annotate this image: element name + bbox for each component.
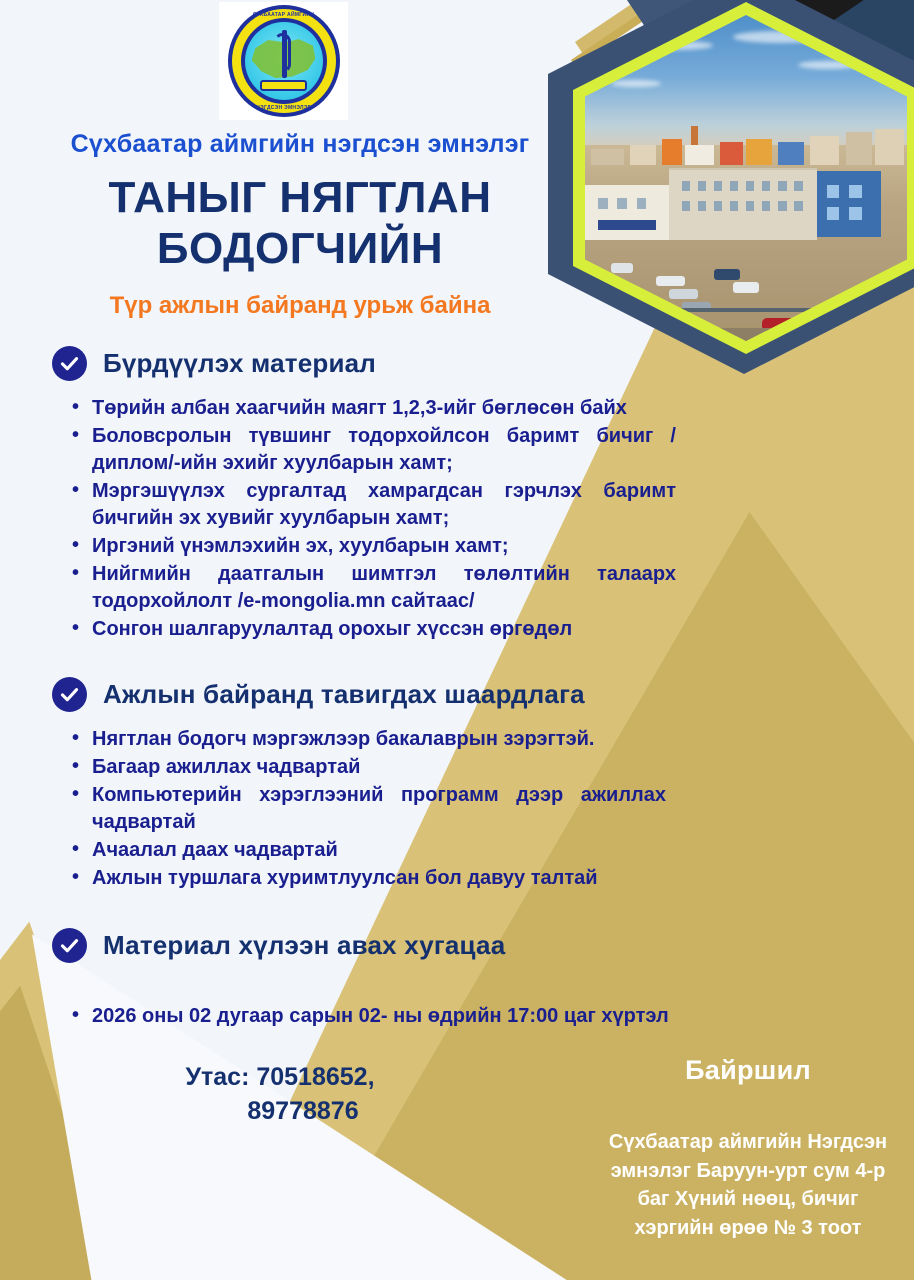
hospital-logo: СҮХБААТАР АЙМГИЙН НЭГДСЭН ЭМНЭЛЭГ: [219, 2, 348, 120]
list-item: Нийгмийн даатгалын шимтгэл төлөлтийн тал…: [92, 561, 700, 614]
section-deadline: Материал хүлээн авах хугацаа 2026 оны 02…: [0, 928, 700, 1129]
list-item: Боловсролын түвшинг тодорхойлсон баримт …: [92, 423, 700, 476]
check-circle-icon: [52, 346, 87, 381]
poster-tagline: Түр ажлын байранд урьж байна: [0, 292, 600, 320]
asclepius-rod-icon: [282, 30, 287, 78]
list-item: Нягтлан бодогч мэргэжлээр бакалаврын зэр…: [92, 726, 700, 752]
list-item: 2026 оны 02 дугаар сарын 02- ны өдрийн 1…: [92, 1003, 700, 1029]
job-announcement-poster: СҮХБААТАР АЙМГИЙН НЭГДСЭН ЭМНЭЛЭГ Сүхбаа…: [0, 0, 914, 1280]
section-title: Бүрдүүлэх материал: [103, 348, 376, 379]
document-requirements-list: Төрийн албан хаагчийн маягт 1,2,3-ийг бө…: [0, 395, 700, 643]
page-title-line-1: ТАНЫГ НЯГТЛАН: [0, 173, 600, 224]
page-title: ТАНЫГ НЯГТЛАН БОДОГЧИЙН: [0, 173, 600, 274]
section-header: Материал хүлээн авах хугацаа: [0, 928, 700, 963]
section-title: Ажлын байранд тавигдах шаардлага: [103, 679, 585, 710]
phone-line-1: Утас: 70518652,: [0, 1061, 560, 1095]
phone-line-2: 89778876: [0, 1095, 560, 1129]
poster-header: Сүхбаатар аймгийн нэгдсэн эмнэлэг ТАНЫГ …: [0, 130, 600, 320]
section-title: Материал хүлээн авах хугацаа: [103, 930, 505, 961]
location-address: Сүхбаатар аймгийн Нэгдсэн эмнэлэг Баруун…: [598, 1128, 898, 1242]
section-header: Бүрдүүлэх материал: [0, 346, 700, 381]
list-item: Ачаалал даах чадвартай: [92, 837, 700, 863]
list-item: Төрийн албан хаагчийн маягт 1,2,3-ийг бө…: [92, 395, 700, 421]
address-line-2: эмнэлэг Баруун-урт сум 4-р: [598, 1157, 898, 1185]
section-required-documents: Бүрдүүлэх материал Төрийн албан хаагчийн…: [0, 346, 700, 643]
list-item: Ажлын туршлага хуримтлуулсан бол давуу т…: [92, 865, 700, 891]
deadline-list: 2026 оны 02 дугаар сарын 02- ны өдрийн 1…: [0, 1003, 700, 1029]
address-line-1: Сүхбаатар аймгийн Нэгдсэн: [598, 1128, 898, 1156]
section-header: Ажлын байранд тавигдах шаардлага: [0, 677, 700, 712]
list-item: Сонгон шалгаруулалтад орохыг хүссэн өргө…: [92, 616, 700, 642]
logo-bottom-text: НЭГДСЭН ЭМНЭЛЭГ: [228, 105, 340, 111]
address-line-3: баг Хүний нөөц, бичиг: [598, 1185, 898, 1213]
address-line-4: хэргийн өрөө № 3 тоот: [598, 1214, 898, 1242]
organization-name: Сүхбаатар аймгийн нэгдсэн эмнэлэг: [0, 130, 600, 159]
location-title: Байршил: [598, 1055, 898, 1086]
page-title-line-2: БОДОГЧИЙН: [0, 224, 600, 275]
logo-core: [245, 22, 323, 100]
job-requirements-list: Нягтлан бодогч мэргэжлээр бакалаврын зэр…: [0, 726, 700, 892]
section-job-requirements: Ажлын байранд тавигдах шаардлага Нягтлан…: [0, 677, 700, 892]
logo-top-text: СҮХБААТАР АЙМГИЙН: [228, 12, 340, 18]
list-item: Иргэний үнэмлэхийн эх, хуулбарын хамт;: [92, 533, 700, 559]
poster-content: Бүрдүүлэх материал Төрийн албан хаагчийн…: [0, 346, 700, 1129]
location-block: Байршил Сүхбаатар аймгийн Нэгдсэн эмнэлэ…: [598, 1055, 898, 1242]
logo-base-shape: [260, 80, 307, 91]
list-item: Мэргэшүүлэх сургалтад хамрагдсан гэрчлэх…: [92, 478, 700, 531]
list-item: Компьютерийн хэрэглээний программ дээр а…: [92, 782, 700, 835]
contact-phone: Утас: 70518652, 89778876: [0, 1061, 560, 1129]
check-circle-icon: [52, 677, 87, 712]
check-circle-icon: [52, 928, 87, 963]
list-item: Багаар ажиллах чадвартай: [92, 754, 700, 780]
